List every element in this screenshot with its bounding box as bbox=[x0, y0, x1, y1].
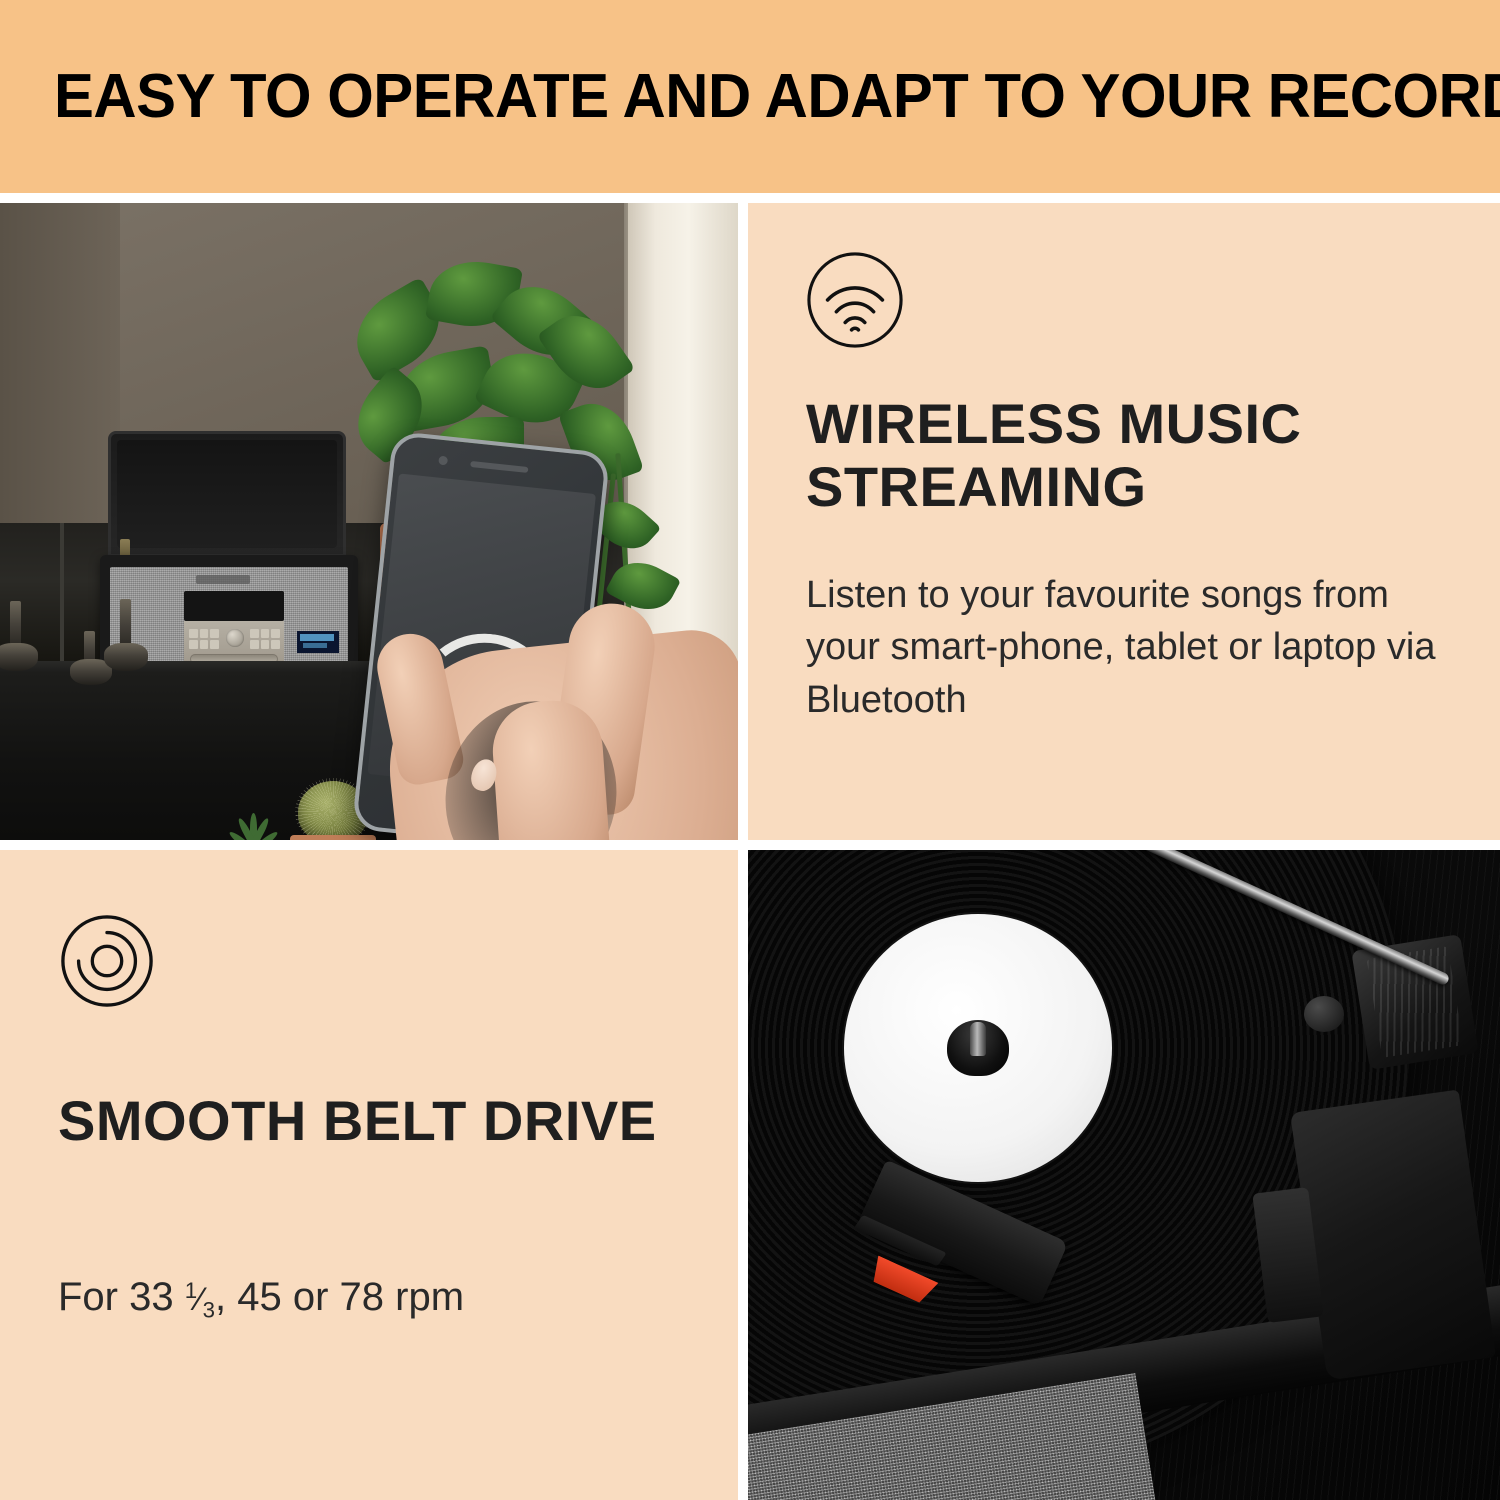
record-player-lid-inner bbox=[117, 440, 337, 548]
display-panel bbox=[184, 591, 284, 621]
belt-drive-body-suffix: , 45 or 78 rpm bbox=[215, 1275, 464, 1319]
header-banner: EASY TO OPERATE AND ADAPT TO YOUR RECORD… bbox=[0, 0, 1500, 193]
wireless-body-text: Listen to your favourite songs from your… bbox=[806, 569, 1466, 726]
control-knob bbox=[226, 629, 244, 647]
turntable-closeup-photo bbox=[748, 850, 1500, 1500]
lcd-display bbox=[297, 631, 339, 653]
belt-drive-body-prefix: For 33 bbox=[58, 1275, 185, 1319]
phone-camera bbox=[438, 456, 448, 466]
lcd-line-2 bbox=[303, 643, 327, 648]
wireless-feature-content bbox=[806, 251, 904, 349]
lcd-line-1 bbox=[300, 634, 334, 641]
phone-speaker bbox=[470, 461, 528, 473]
left-button-cluster bbox=[189, 629, 219, 649]
bud-vase bbox=[0, 643, 38, 671]
turntable-artwork bbox=[748, 850, 1500, 1500]
feature-wireless-music-streaming: WIRELESS MUSIC STREAMING Listen to your … bbox=[748, 203, 1500, 840]
wifi-circle-icon bbox=[806, 251, 904, 349]
sideboard-divider bbox=[60, 523, 64, 668]
belt-drive-heading: SMOOTH BELT DRIVE bbox=[58, 1090, 678, 1153]
concentric-circles-icon bbox=[58, 912, 156, 1010]
belt-drive-icon-wrap bbox=[58, 912, 156, 1010]
spindle-pin bbox=[970, 1022, 986, 1056]
terracotta-bowl bbox=[290, 835, 376, 840]
record-player-lid bbox=[108, 431, 346, 557]
feature-smooth-belt-drive: SMOOTH BELT DRIVE For 33 1⁄3, 45 or 78 r… bbox=[0, 850, 738, 1500]
room-scene-artwork bbox=[0, 203, 738, 840]
fraction-denominator: 3 bbox=[203, 1298, 215, 1323]
fraction-numerator: 1 bbox=[185, 1278, 197, 1303]
tonearm-counterweight bbox=[1304, 996, 1344, 1032]
wireless-heading: WIRELESS MUSIC STREAMING bbox=[806, 393, 1446, 518]
belt-drive-body-text: For 33 1⁄3, 45 or 78 rpm bbox=[58, 1270, 464, 1326]
room-scene-photo bbox=[0, 203, 738, 840]
tonearm-pivot-housing bbox=[1351, 934, 1478, 1070]
right-button-cluster bbox=[250, 629, 280, 649]
bud-vase bbox=[104, 643, 148, 671]
succulent-plant bbox=[236, 813, 272, 840]
brand-logo bbox=[196, 575, 250, 584]
rpm-fraction: 1⁄3 bbox=[185, 1280, 215, 1317]
product-feature-infographic: EASY TO OPERATE AND ADAPT TO YOUR RECORD… bbox=[0, 0, 1500, 1500]
feature-grid: WIRELESS MUSIC STREAMING Listen to your … bbox=[0, 203, 1500, 1500]
banner-title: EASY TO OPERATE AND ADAPT TO YOUR RECORD… bbox=[54, 66, 1500, 128]
